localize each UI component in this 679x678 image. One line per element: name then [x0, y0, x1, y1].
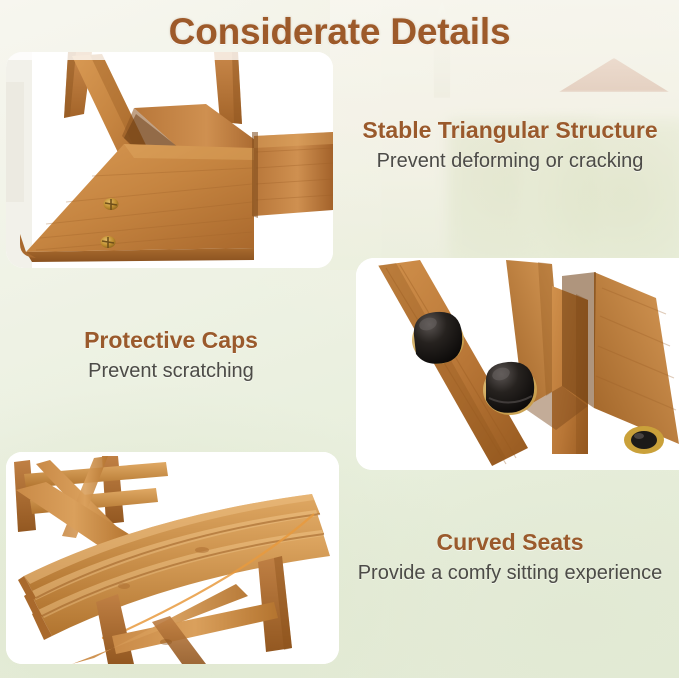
infographic-canvas: Considerate Details: [0, 0, 679, 678]
feature-heading-triangular: Stable Triangular Structure: [341, 118, 679, 144]
curved-seat-illustration: [6, 452, 339, 664]
screw-head-lower: [101, 236, 116, 248]
protective-caps-illustration: [356, 258, 679, 470]
protective-cap-upper: [412, 312, 464, 364]
feature-text-seats: Curved Seats Provide a comfy sitting exp…: [341, 530, 679, 585]
triangular-brace-illustration: [6, 52, 333, 268]
screw-head-upper: [104, 198, 119, 210]
protective-cap-lower: [483, 362, 537, 415]
feature-heading-seats: Curved Seats: [341, 530, 679, 556]
backdrop-roof-icon: [559, 58, 669, 92]
feature-subheading-seats: Provide a comfy sitting experience: [341, 562, 679, 585]
feature-subheading-caps: Prevent scratching: [2, 360, 340, 383]
curved-seat-photo: [6, 452, 339, 664]
protective-caps-photo: [356, 258, 679, 470]
feature-heading-caps: Protective Caps: [2, 328, 340, 354]
page-title: Considerate Details: [0, 11, 679, 53]
brass-fitting: [624, 426, 664, 454]
feature-text-triangular: Stable Triangular Structure Prevent defo…: [341, 118, 679, 173]
feature-text-caps: Protective Caps Prevent scratching: [2, 328, 340, 383]
feature-subheading-triangular: Prevent deforming or cracking: [341, 150, 679, 173]
triangular-brace-photo: [6, 52, 333, 268]
